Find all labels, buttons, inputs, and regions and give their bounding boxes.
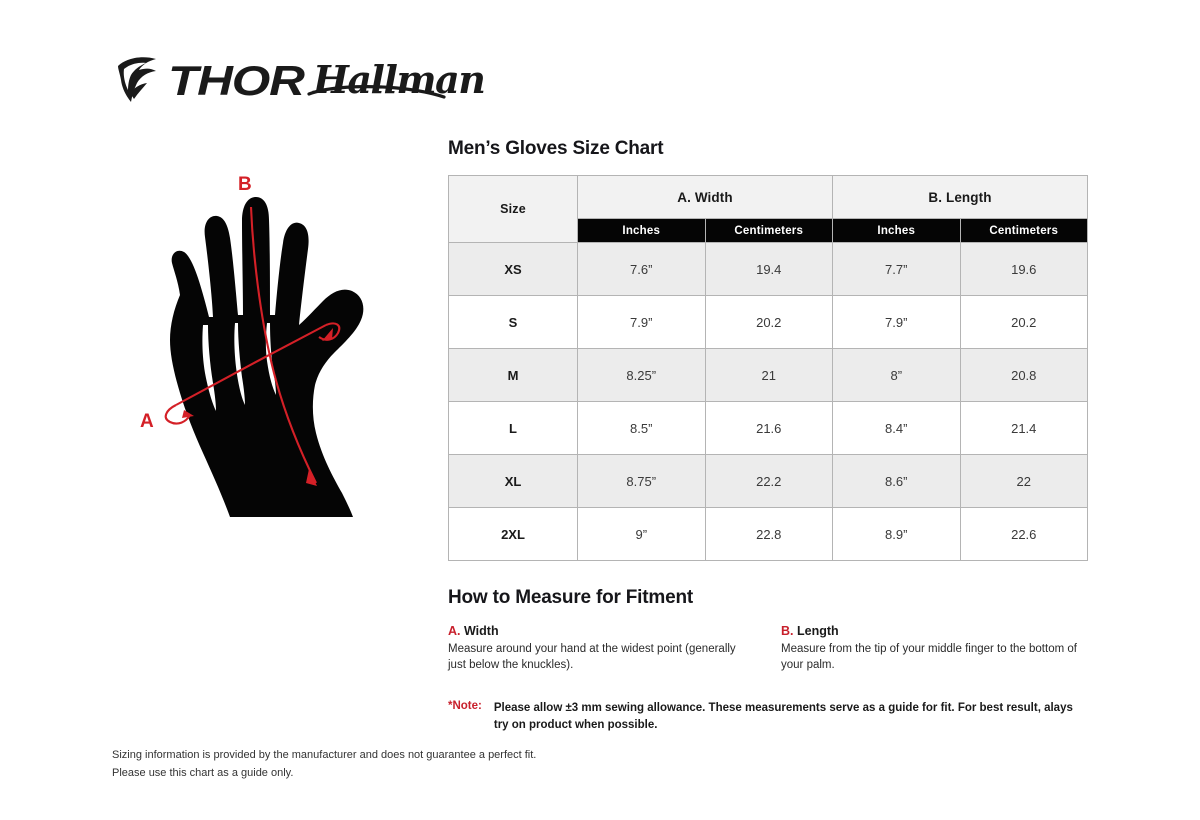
cell-length-inches: 8.9” xyxy=(833,508,961,561)
cell-width-inches: 8.5” xyxy=(578,402,706,455)
measure-name-length: Length xyxy=(797,624,839,638)
table-row: XS 7.6” 19.4 7.7” 19.6 xyxy=(449,243,1088,296)
note-tag: *Note: xyxy=(448,700,482,735)
cell-size: XL xyxy=(449,455,578,508)
cell-length-inches: 7.9” xyxy=(833,296,961,349)
cell-width-centimeters: 22.2 xyxy=(705,455,833,508)
column-header-length-inches: Inches xyxy=(833,219,961,243)
note-text: Please allow ±3 mm sewing allowance. The… xyxy=(494,700,1074,735)
measure-description-length: Measure from the tip of your middle fing… xyxy=(781,641,1088,674)
cell-width-inches: 7.6” xyxy=(578,243,706,296)
table-row: M 8.25” 21 8” 20.8 xyxy=(449,349,1088,402)
size-chart-table: Size A. Width B. Length Inches Centimete… xyxy=(448,175,1088,561)
cell-width-inches: 7.9” xyxy=(578,296,706,349)
cell-size: M xyxy=(449,349,578,402)
cell-width-centimeters: 21 xyxy=(705,349,833,402)
thor-logo: THOR xyxy=(112,52,283,109)
thor-wordmark: THOR xyxy=(168,60,304,102)
cell-length-centimeters: 22.6 xyxy=(960,508,1088,561)
cell-length-centimeters: 21.4 xyxy=(960,402,1088,455)
measure-letter-a: A. xyxy=(448,624,461,638)
cell-width-centimeters: 22.8 xyxy=(705,508,833,561)
cell-width-centimeters: 20.2 xyxy=(705,296,833,349)
cell-length-inches: 7.7” xyxy=(833,243,961,296)
note-block: *Note: Please allow ±3 mm sewing allowan… xyxy=(448,700,1088,735)
measure-letter-b: B. xyxy=(781,624,794,638)
brand-logo-bar: THOR Hallman xyxy=(112,52,484,108)
column-group-header-length: B. Length xyxy=(833,176,1088,219)
measure-name-width: Width xyxy=(464,624,499,638)
hallman-logo: Hallman xyxy=(313,61,484,99)
column-header-length-centimeters: Centimeters xyxy=(960,219,1088,243)
cell-length-centimeters: 20.2 xyxy=(960,296,1088,349)
size-chart-content: Men’s Gloves Size Chart Size A. Width B.… xyxy=(448,138,1088,734)
cell-width-inches: 8.25” xyxy=(578,349,706,402)
measure-item-length: B. Length Measure from the tip of your m… xyxy=(781,624,1088,674)
column-group-header-width: A. Width xyxy=(578,176,833,219)
measure-label-width: A. Width xyxy=(448,624,755,638)
table-header-group-row: Size A. Width B. Length xyxy=(449,176,1088,219)
footer-line-1: Sizing information is provided by the ma… xyxy=(112,747,536,765)
cell-length-inches: 8.6” xyxy=(833,455,961,508)
thor-helmet-icon xyxy=(112,52,166,109)
cell-length-centimeters: 19.6 xyxy=(960,243,1088,296)
measure-label-length: B. Length xyxy=(781,624,1088,638)
table-row: L 8.5” 21.6 8.4” 21.4 xyxy=(449,402,1088,455)
cell-size: L xyxy=(449,402,578,455)
cell-length-centimeters: 22 xyxy=(960,455,1088,508)
cell-length-centimeters: 20.8 xyxy=(960,349,1088,402)
cell-width-centimeters: 19.4 xyxy=(705,243,833,296)
table-row: XL 8.75” 22.2 8.6” 22 xyxy=(449,455,1088,508)
cell-width-inches: 8.75” xyxy=(578,455,706,508)
cell-length-inches: 8.4” xyxy=(833,402,961,455)
column-header-width-centimeters: Centimeters xyxy=(705,219,833,243)
cell-size: 2XL xyxy=(449,508,578,561)
hallman-swash-icon xyxy=(307,85,447,104)
cell-width-centimeters: 21.6 xyxy=(705,402,833,455)
cell-size: XS xyxy=(449,243,578,296)
hand-measurement-diagram: B A xyxy=(120,165,430,540)
how-to-measure-section: How to Measure for Fitment A. Width Meas… xyxy=(448,587,1088,674)
page-title: Men’s Gloves Size Chart xyxy=(448,138,1088,160)
measure-description-width: Measure around your hand at the widest p… xyxy=(448,641,755,674)
footer-line-2: Please use this chart as a guide only. xyxy=(112,765,536,783)
cell-length-inches: 8” xyxy=(833,349,961,402)
marker-b-label: B xyxy=(238,174,252,195)
cell-width-inches: 9” xyxy=(578,508,706,561)
how-to-measure-title: How to Measure for Fitment xyxy=(448,587,1088,609)
table-row: 2XL 9” 22.8 8.9” 22.6 xyxy=(449,508,1088,561)
footer-disclaimer: Sizing information is provided by the ma… xyxy=(112,747,536,783)
column-header-size: Size xyxy=(449,176,578,243)
table-row: S 7.9” 20.2 7.9” 20.2 xyxy=(449,296,1088,349)
cell-size: S xyxy=(449,296,578,349)
column-header-width-inches: Inches xyxy=(578,219,706,243)
marker-a-label: A xyxy=(140,411,154,432)
measure-item-width: A. Width Measure around your hand at the… xyxy=(448,624,755,674)
